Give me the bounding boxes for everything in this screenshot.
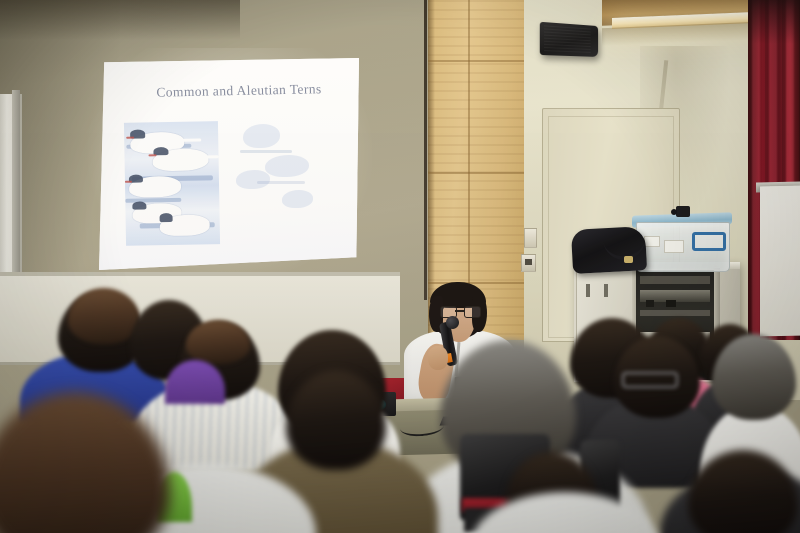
rack-handle[interactable] bbox=[586, 284, 590, 297]
curtain-top-shadow bbox=[748, 0, 800, 44]
slide-title: Common and Aleutian Terns bbox=[135, 81, 343, 101]
projection-screen: Common and Aleutian Terns bbox=[99, 58, 359, 270]
audience-head-balding bbox=[68, 288, 140, 344]
slide-photo-right bbox=[234, 117, 338, 227]
wall-top-shading bbox=[0, 0, 240, 40]
presenter-hand bbox=[428, 346, 448, 370]
camera-icon bbox=[676, 206, 690, 217]
wood-seam bbox=[428, 172, 524, 174]
presentation-slide: Common and Aleutian Terns bbox=[99, 58, 359, 270]
flipchart-board bbox=[760, 186, 800, 337]
wood-seam bbox=[428, 282, 524, 284]
slide-photo-left bbox=[124, 121, 220, 246]
storage-bin-handle[interactable] bbox=[692, 232, 726, 251]
wall-outlet bbox=[521, 254, 536, 272]
wall-speaker-grille bbox=[544, 25, 591, 54]
light-switch[interactable] bbox=[524, 228, 537, 248]
audience-glasses-icon bbox=[622, 372, 678, 388]
wood-panel-edge bbox=[428, 0, 435, 340]
wood-seam bbox=[428, 60, 524, 62]
presenter-glasses-icon bbox=[440, 306, 480, 316]
wall-corner-seam bbox=[424, 0, 427, 300]
rack-handle[interactable] bbox=[604, 284, 608, 297]
bin-label bbox=[664, 240, 684, 253]
bag-buckle-icon bbox=[624, 256, 633, 263]
audience-head-balding bbox=[186, 320, 250, 364]
presentation-photograph: Common and Aleutian Terns bbox=[0, 0, 800, 533]
bin-label bbox=[644, 236, 660, 247]
